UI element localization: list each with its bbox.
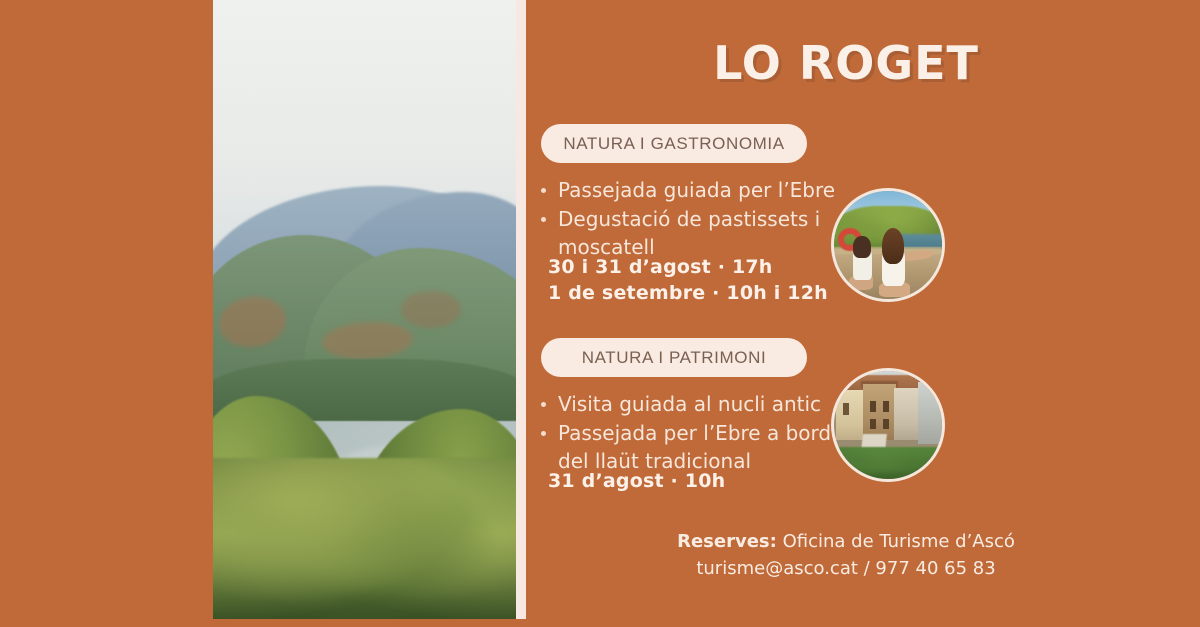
building-center — [863, 384, 895, 440]
building-far-right — [918, 382, 945, 445]
window — [843, 403, 849, 415]
schedule-line: 1 de setembre · 10h i 12h — [548, 280, 878, 306]
schedule-patrimoni: 31 d’agost · 10h — [548, 468, 878, 494]
garden-vegetation — [831, 447, 945, 482]
window — [883, 401, 889, 412]
list-item: Passejada per l’Ebre a bord del llaüt tr… — [536, 419, 846, 475]
person-right-hair — [882, 228, 905, 265]
list-item: Degustació de pastissets i moscatell — [536, 205, 846, 261]
poster: LO ROGET NATURA I GASTRONOMIA Passejada … — [0, 0, 1200, 627]
list-item: Visita guiada al nucli antic — [536, 390, 846, 418]
page-title: LO ROGET — [526, 36, 1166, 90]
booking-info: Reserves: Oficina de Turisme d’Ascó turi… — [526, 528, 1166, 582]
soil-patch-c — [401, 291, 462, 328]
schedule-gastronomia: 30 i 31 d’agost · 17h 1 de setembre · 10… — [548, 254, 878, 306]
schedule-line: 31 d’agost · 10h — [548, 468, 878, 494]
old-town-photo — [831, 368, 945, 482]
window — [883, 419, 889, 430]
activity-list-patrimoni: Visita guiada al nucli antic Passejada p… — [536, 390, 846, 476]
booking-contact: turisme@asco.cat / 977 40 65 83 — [526, 555, 1166, 582]
badge-natura-i-gastronomia: NATURA I GASTRONOMIA — [541, 124, 807, 163]
window — [870, 419, 876, 430]
main-photo-frame — [213, 0, 526, 619]
reserves-label: Reserves: — [677, 531, 777, 552]
boat-excursion-photo — [831, 188, 945, 302]
person-left-hair — [853, 236, 870, 258]
content-panel: LO ROGET NATURA I GASTRONOMIA Passejada … — [526, 0, 1200, 627]
activity-list-gastronomia: Passejada guiada per l’Ebre Degustació d… — [536, 176, 846, 262]
building-left — [836, 390, 864, 440]
list-item: Passejada guiada per l’Ebre — [536, 176, 846, 204]
badge-natura-i-patrimoni: NATURA I PATRIMONI — [541, 338, 807, 377]
ebre-river-landscape-photo — [213, 0, 516, 619]
booking-office: Oficina de Turisme d’Ascó — [783, 531, 1015, 552]
building-right — [894, 388, 920, 440]
foreground-canopy — [213, 458, 516, 619]
schedule-line: 30 i 31 d’agost · 17h — [548, 254, 878, 280]
booking-office-line: Reserves: Oficina de Turisme d’Ascó — [526, 528, 1166, 555]
window — [870, 401, 876, 412]
